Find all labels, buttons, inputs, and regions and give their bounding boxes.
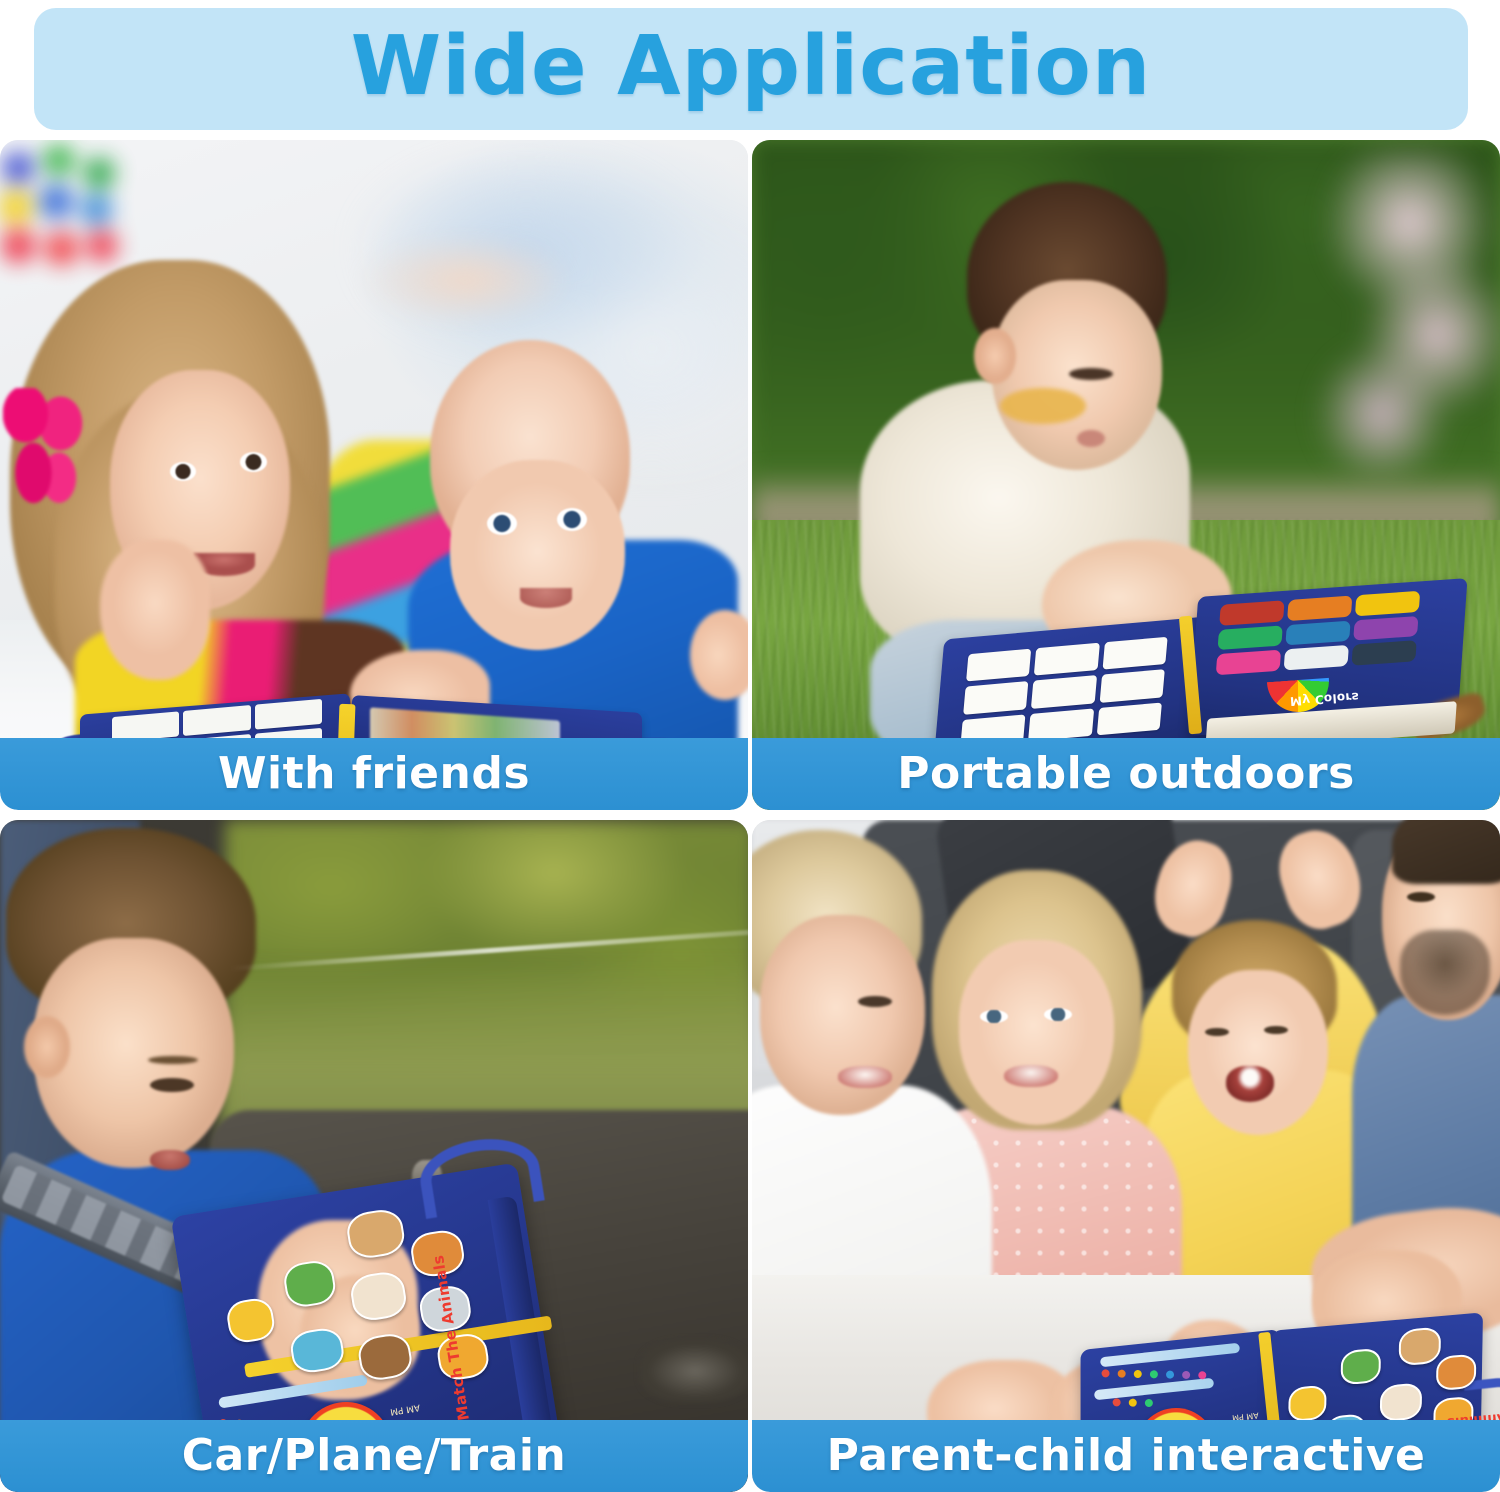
toddler-ear <box>974 328 1016 384</box>
girl-mouth <box>1004 1065 1058 1087</box>
page-title: Wide Application <box>351 26 1151 108</box>
photo-portable-outdoors: The Weather My Colors <box>752 140 1500 810</box>
girl-eye-right <box>240 452 267 472</box>
toddler-mouth <box>1077 430 1105 447</box>
header-band: Wide Application <box>34 8 1468 130</box>
panel-car-plane-train: Match The Animals <box>0 820 748 1492</box>
baby-face <box>450 460 625 650</box>
weather-cards <box>960 637 1167 747</box>
product-infographic: Wide Application <box>0 0 1500 1492</box>
toddler-collar <box>1000 388 1086 424</box>
panel-portable-outdoors: The Weather My Colors Portable outdoors <box>752 140 1500 810</box>
mother-eye <box>858 996 892 1007</box>
boy-ear <box>24 1016 70 1078</box>
boy-face <box>1188 970 1328 1135</box>
baby-eye-right <box>557 508 587 531</box>
photo-with-friends: The Weather <box>0 140 748 810</box>
boy-eye <box>150 1078 194 1092</box>
background-legs <box>330 215 630 360</box>
photo-car-plane-train: Match The Animals <box>0 820 748 1492</box>
boy-eye-right <box>1264 1026 1288 1034</box>
mother-mouth <box>838 1066 892 1088</box>
toddler-eye <box>1069 368 1113 380</box>
baby-eye-left <box>487 512 517 535</box>
panel-grid: The Weather With friends <box>0 140 1500 1492</box>
father-hair <box>1392 820 1500 884</box>
color-strips <box>1216 591 1420 675</box>
photo-parent-child-interactive: Match The Animals <box>752 820 1500 1492</box>
father-eye <box>1407 892 1435 902</box>
blossom-tree <box>1290 150 1500 480</box>
caption-text: Parent-child interactive <box>827 1430 1426 1481</box>
boy-mouth <box>150 1150 190 1170</box>
caption-text: With friends <box>218 748 530 799</box>
caption-bar-portable-outdoors: Portable outdoors <box>752 738 1500 810</box>
panel-with-friends: The Weather With friends <box>0 140 748 810</box>
toy-blocks <box>0 142 129 272</box>
father-beard <box>1400 930 1490 1015</box>
girl-eye-left <box>980 1010 1008 1023</box>
boy-open-mouth <box>1226 1066 1274 1102</box>
boy-eye-left <box>1205 1028 1229 1036</box>
caption-bar-car-plane-train: Car/Plane/Train <box>0 1420 748 1492</box>
caption-bar-with-friends: With friends <box>0 738 748 810</box>
girl-hair-bow <box>3 388 83 506</box>
caption-text: Portable outdoors <box>897 748 1355 799</box>
girl-eye-right <box>1044 1008 1072 1021</box>
door-handle <box>640 1340 748 1402</box>
caption-bar-parent-child-interactive: Parent-child interactive <box>752 1420 1500 1492</box>
girl-face <box>959 940 1114 1125</box>
caption-text: Car/Plane/Train <box>182 1430 567 1481</box>
boy-eyebrow <box>148 1056 198 1064</box>
mother-face <box>760 915 925 1115</box>
baby-mouth <box>520 588 572 608</box>
girl-eye-left <box>170 462 196 481</box>
panel-parent-child-interactive: Match The Animals <box>752 820 1500 1492</box>
girl-hand <box>100 540 210 680</box>
